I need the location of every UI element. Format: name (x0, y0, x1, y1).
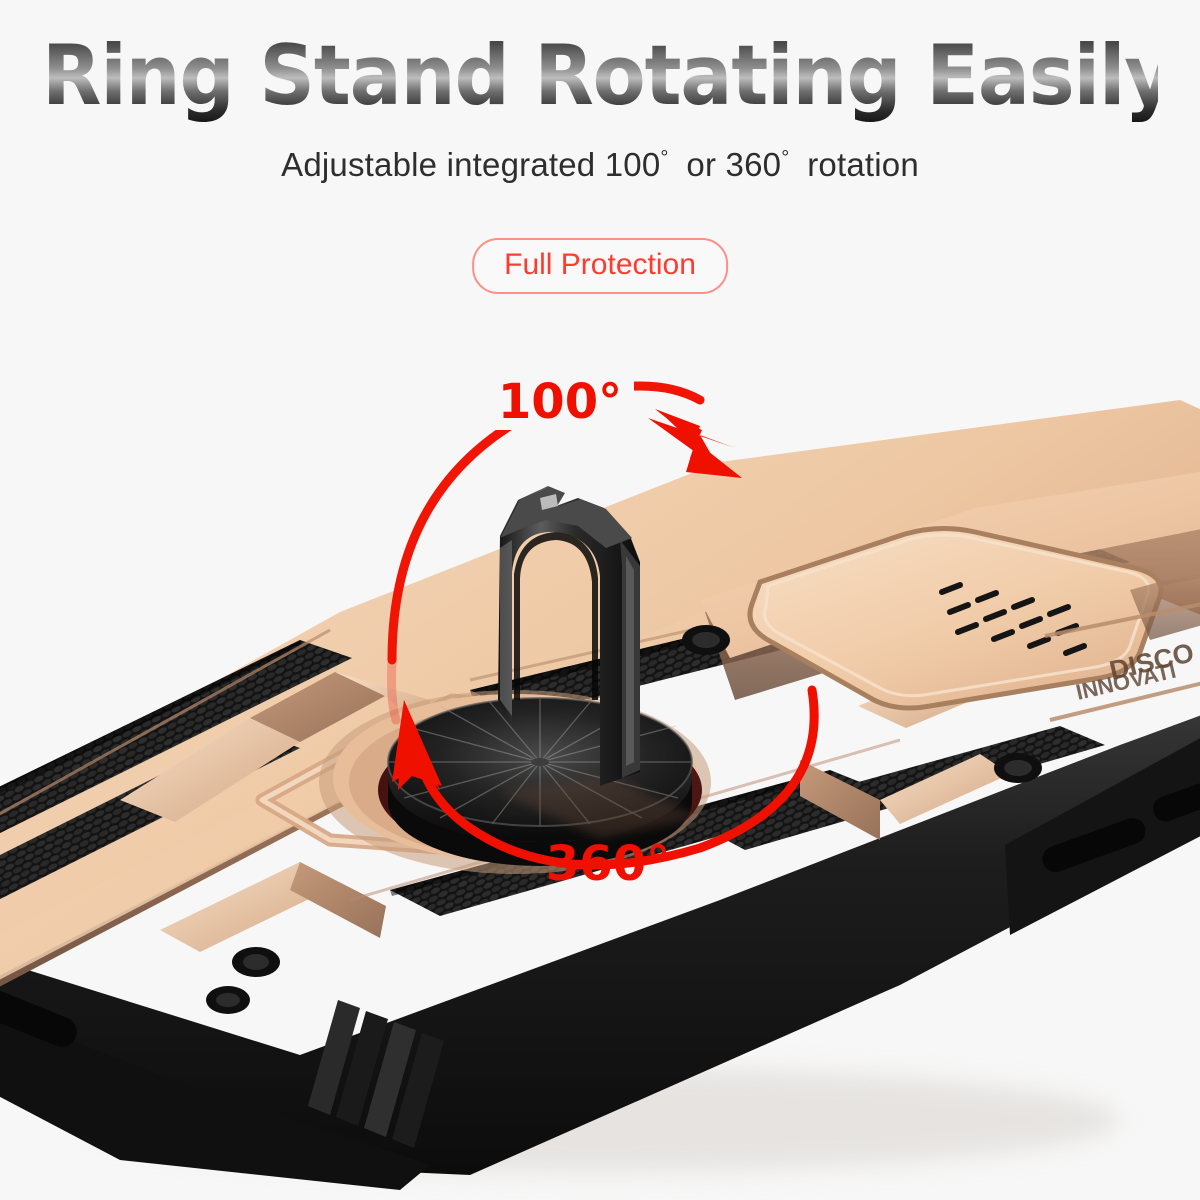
product-illustration: DISCO INNOVATI (0, 0, 1200, 1200)
product-marketing-banner: Ring Stand Rotating Easily Adjustable in… (0, 0, 1200, 1200)
annotation-360-label: 360° (546, 836, 670, 892)
annotation-100-label: 100° (498, 374, 622, 430)
